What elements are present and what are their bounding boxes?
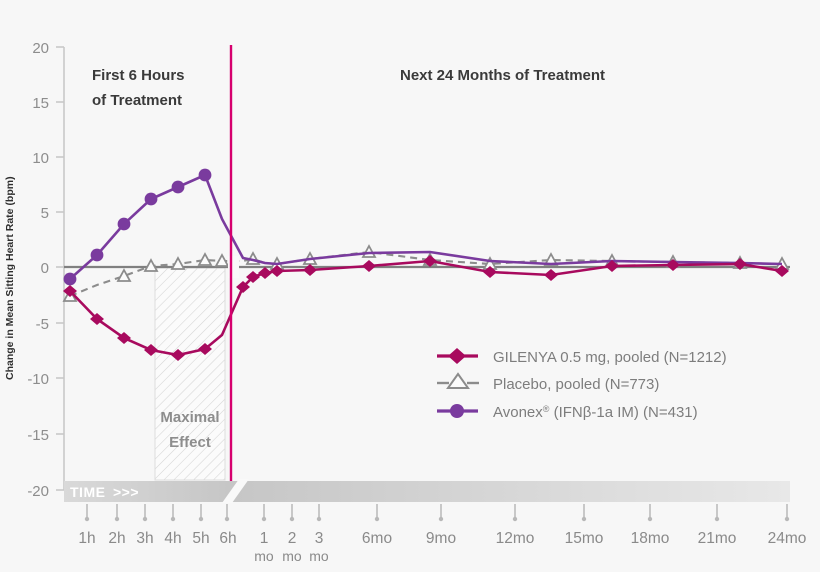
x-label-21mo: 21mo	[698, 530, 737, 547]
x-label-1mo-unit: mo	[254, 548, 274, 564]
right-panel-title: Next 24 Months of Treatment	[400, 67, 605, 84]
x-label-18mo: 18mo	[631, 530, 670, 547]
circle-marker-icon	[450, 404, 464, 418]
x-label-12mo: 12mo	[496, 530, 535, 547]
x-label-2h: 2h	[108, 530, 125, 547]
time-bar: TIME >>>	[64, 479, 790, 503]
y-tick-label-10: 10	[32, 150, 49, 167]
time-bar-arrows: >>>	[113, 484, 139, 500]
legend-label-avonex-rest: (IFNβ-1a IM) (N=431)	[549, 404, 697, 421]
maximal-effect-line1: Maximal	[160, 409, 219, 426]
y-tick-label-5: 5	[41, 205, 49, 222]
maximal-effect-line2: Effect	[169, 434, 211, 451]
x-label-6mo: 6mo	[362, 530, 392, 547]
x-label-3mo-unit: mo	[309, 548, 329, 564]
left-panel-title-line1: First 6 Hours	[92, 67, 185, 84]
x-label-3mo-num: 3	[315, 530, 324, 547]
left-panel-title-line2: of Treatment	[92, 92, 182, 109]
x-label-1mo-num: 1	[260, 530, 269, 547]
time-bar-right	[231, 481, 790, 502]
x-label-15mo: 15mo	[565, 530, 604, 547]
maximal-effect-band: Maximal Effect	[155, 268, 225, 480]
y-tick-label-0: 0	[41, 260, 49, 277]
legend-label-avonex-name: Avonex	[493, 404, 543, 421]
y-tick-label-m15: -15	[27, 427, 49, 444]
legend-label-gilenya: GILENYA 0.5 mg, pooled (N=1212)	[493, 349, 727, 366]
time-bar-label: TIME	[70, 484, 105, 500]
y-tick-label-m20: -20	[27, 483, 49, 500]
legend-label-placebo: Placebo, pooled (N=773)	[493, 376, 659, 393]
x-label-2mo-unit: mo	[282, 548, 302, 564]
x-label-9mo: 9mo	[426, 530, 456, 547]
x-label-6h: 6h	[219, 530, 236, 547]
y-tick-label-15: 15	[32, 95, 49, 112]
y-tick-label-m5: -5	[36, 316, 49, 333]
x-label-1h: 1h	[78, 530, 95, 547]
x-label-5h: 5h	[192, 530, 209, 547]
chart-container: 20 15 10 5 0 -5 -10 -15 -20 Change in Me…	[0, 0, 820, 572]
y-tick-label-20: 20	[32, 40, 49, 57]
axis-break-mask	[228, 256, 239, 278]
x-label-4h: 4h	[164, 530, 181, 547]
y-axis-title: Change in Mean Sitting Heart Rate (bpm)	[4, 176, 16, 380]
x-label-3h: 3h	[136, 530, 153, 547]
legend-label-avonex: Avonex® (IFNβ-1a IM) (N=431)	[493, 404, 698, 421]
heart-rate-chart: 20 15 10 5 0 -5 -10 -15 -20 Change in Me…	[0, 0, 820, 572]
y-tick-label-m10: -10	[27, 371, 49, 388]
x-label-2mo-num: 2	[288, 530, 297, 547]
x-label-24mo: 24mo	[768, 530, 807, 547]
